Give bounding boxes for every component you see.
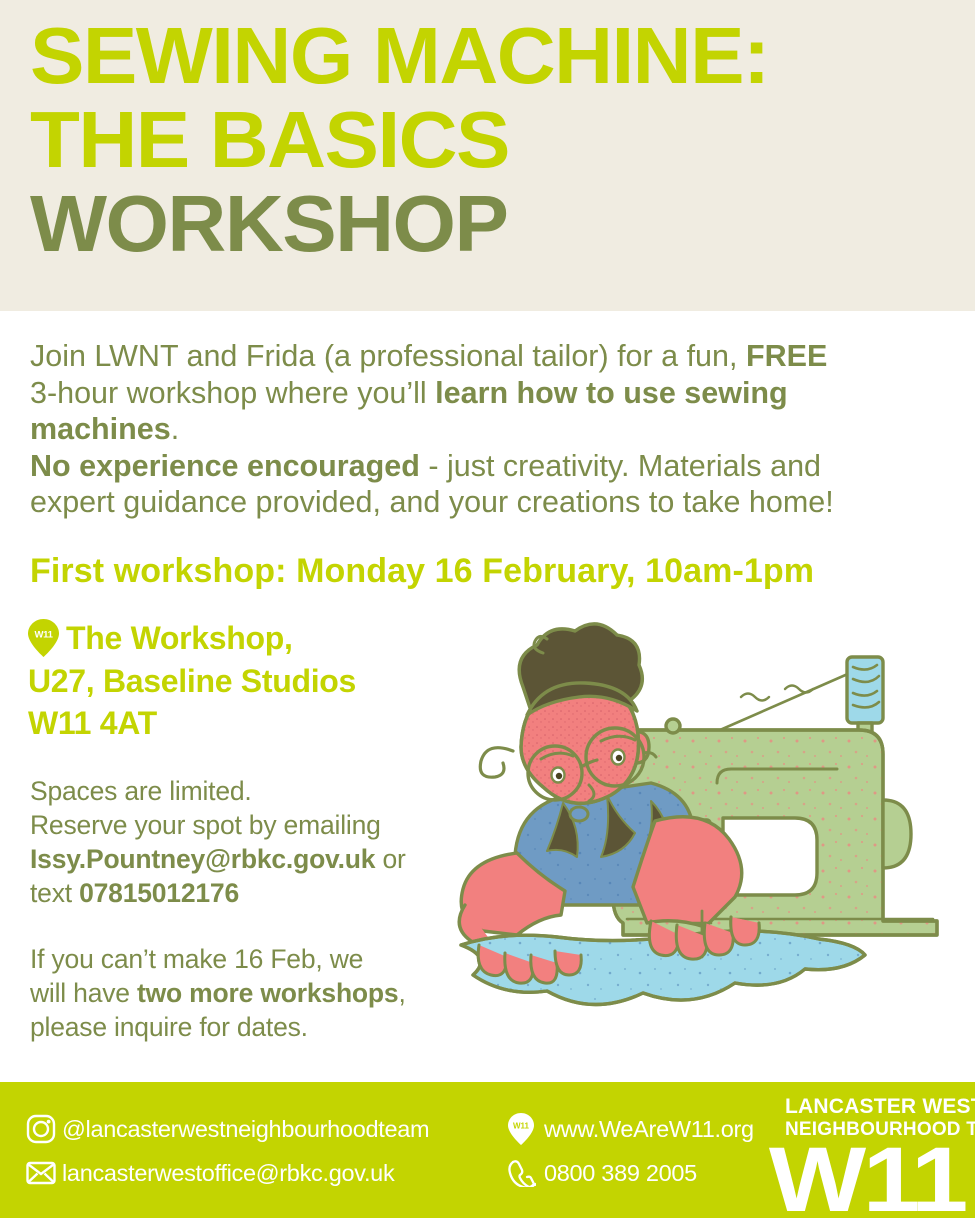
contact-phone-text[interactable]: 07815012176	[79, 878, 239, 908]
title-line-1: SEWING MACHINE:	[30, 14, 968, 98]
reserve-line-3-tail: or	[375, 844, 405, 874]
intro-paragraph: Join LWNT and Frida (a professional tail…	[30, 338, 930, 521]
header-band: SEWING MACHINE: THE BASICS WORKSHOP	[0, 0, 975, 311]
map-pin-icon: W11	[28, 619, 59, 657]
footer-bar: @lancasterwestneighbourhoodteam lancaste…	[0, 1082, 975, 1218]
alt-dates-line-2-tail: ,	[398, 978, 405, 1008]
alternate-dates-info: If you can’t make 16 Feb, we will have t…	[30, 942, 500, 1044]
svg-text:W11: W11	[513, 1122, 530, 1131]
reserve-line-3: Issy.Pountney@rbkc.gov.uk or	[30, 842, 500, 876]
title-line-3: WORKSHOP	[30, 182, 968, 266]
reserve-line-1: Spaces are limited.	[30, 774, 500, 808]
footer-phone-number: 0800 389 2005	[544, 1160, 697, 1187]
first-workshop-date: First workshop: Monday 16 February, 10am…	[30, 551, 814, 591]
intro-line-1-text: Join LWNT and Frida (a professional tail…	[30, 339, 746, 373]
lancaster-west-logo: LANCASTER WEST NEIGHBOURHOOD TEAM W11	[785, 1096, 965, 1218]
alt-dates-line-2: will have two more workshops,	[30, 976, 500, 1010]
intro-machines-emphasis: machines	[30, 412, 171, 446]
footer-contacts-right: W11 www.WeAreW11.org 0800 389 2005	[508, 1108, 798, 1196]
sewing-illustration	[455, 605, 975, 1065]
logo-w11-mark: W11	[763, 1141, 965, 1218]
reserve-line-4-head: text	[30, 878, 79, 908]
poster-title: SEWING MACHINE: THE BASICS WORKSHOP	[30, 14, 950, 266]
intro-line-5: expert guidance provided, and your creat…	[30, 484, 930, 521]
logo-line-1: LANCASTER WEST	[785, 1096, 965, 1117]
intro-free-emphasis: FREE	[746, 339, 827, 373]
poster-root: SEWING MACHINE: THE BASICS WORKSHOP Join…	[0, 0, 975, 1218]
phone-icon	[508, 1158, 544, 1188]
reserve-line-4: text 07815012176	[30, 876, 500, 910]
intro-line-2: 3-hour workshop where you’ll learn how t…	[30, 375, 930, 412]
footer-website-url: www.WeAreW11.org	[544, 1116, 754, 1143]
address-line-1: The Workshop,	[28, 617, 488, 660]
intro-line-4: No experience encouraged - just creativi…	[30, 448, 930, 485]
intro-line-3: machines.	[30, 411, 930, 448]
intro-line-3-text: .	[171, 412, 179, 446]
alt-dates-line-2-head: will have	[30, 978, 137, 1008]
intro-line-1: Join LWNT and Frida (a professional tail…	[30, 338, 930, 375]
footer-phone-row[interactable]: 0800 389 2005	[508, 1152, 798, 1194]
alt-dates-line-3: please inquire for dates.	[30, 1010, 500, 1044]
footer-email-address: lancasterwestoffice@rbkc.gov.uk	[62, 1160, 394, 1187]
footer-contacts-left: @lancasterwestneighbourhoodteam lancaste…	[26, 1108, 496, 1196]
alt-dates-emphasis: two more workshops	[137, 978, 398, 1008]
footer-email-row[interactable]: lancasterwestoffice@rbkc.gov.uk	[26, 1152, 496, 1194]
intro-line-4-text: - just creativity. Materials and	[420, 449, 821, 483]
map-pin-icon: W11	[508, 1114, 544, 1144]
contact-email[interactable]: Issy.Pountney@rbkc.gov.uk	[30, 844, 375, 874]
svg-text:W11: W11	[34, 630, 53, 641]
title-line-2: THE BASICS	[30, 98, 968, 182]
venue-address: W11 The Workshop, U27, Baseline Studios …	[28, 617, 488, 745]
reserve-line-2: Reserve your spot by emailing	[30, 808, 500, 842]
address-line-3: W11 4AT	[28, 702, 488, 745]
envelope-icon	[26, 1158, 62, 1188]
instagram-icon	[26, 1114, 62, 1144]
intro-line-2-text: 3-hour workshop where you’ll	[30, 376, 435, 410]
instagram-handle: @lancasterwestneighbourhoodteam	[62, 1116, 429, 1143]
alt-dates-line-1: If you can’t make 16 Feb, we	[30, 942, 500, 976]
footer-instagram-row[interactable]: @lancasterwestneighbourhoodteam	[26, 1108, 496, 1150]
intro-learn-emphasis: learn how to use sewing	[435, 376, 788, 410]
address-line-2: U27, Baseline Studios	[28, 660, 488, 703]
intro-noexperience-emphasis: No experience encouraged	[30, 449, 420, 483]
footer-website-row[interactable]: W11 www.WeAreW11.org	[508, 1108, 798, 1150]
reservation-info: Spaces are limited. Reserve your spot by…	[30, 774, 500, 910]
